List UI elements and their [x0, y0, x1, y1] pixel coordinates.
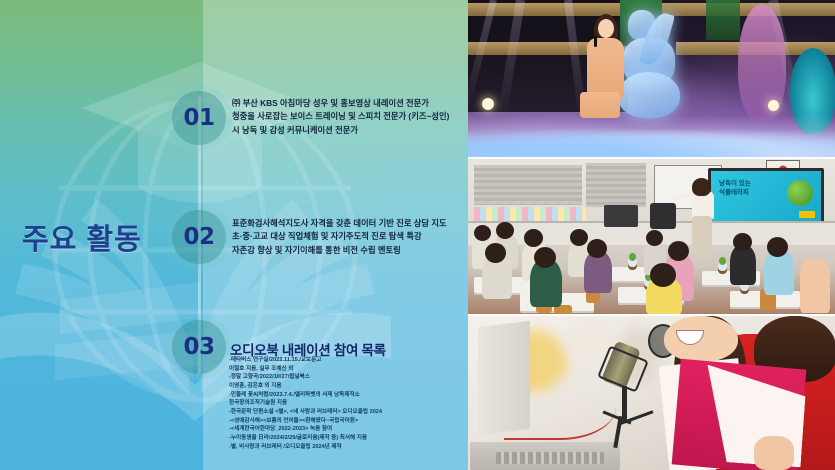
- section-02-line-1: 표준화검사해석지도사 자격을 갖춘 데이터 기반 진로 상담 지도: [232, 217, 447, 230]
- list-item: 이철호 지음, 실무 조예신 외: [229, 365, 382, 374]
- list-item: 이영훈, 김은호 외 지음: [229, 382, 382, 391]
- section-03-list: -메타버스 연구실/2022.11.15./교보문고 이철호 지음, 실무 조예…: [229, 356, 382, 451]
- section-01-line-2: 청중을 사로잡는 보이스 트레이닝 및 스피치 전문가 (키즈~성인): [232, 110, 449, 123]
- section-number-03: 03: [183, 334, 214, 360]
- list-item: -<세계한국어한마당_2022-2023> 녹음 참여: [229, 425, 382, 434]
- left-content-panel: 주요 활동 01 ㈜ 부산 KBS 아침마당 성우 및 홍보영상 내레이션 전문…: [0, 0, 468, 470]
- list-item: -<성애감사해><보름의 언어들><환해왔다~국립국어원>: [229, 417, 382, 426]
- section-number-badge-01: 01: [172, 91, 226, 145]
- screen-text: 낭독이 있는 식물테라피: [719, 179, 751, 197]
- section-02-body: 표준화검사해석지도사 자격을 갖춘 데이터 기반 진로 상담 지도 초·중·고교…: [232, 217, 447, 257]
- list-item: -메타버스 연구실/2022.11.15./교보문고: [229, 356, 382, 365]
- list-item: -민들레 꽃씨처럼/2023.7.4./엘리파벳의 서재 낭독제작소: [229, 391, 382, 400]
- list-item: -별, 비사랑과 러브레터 /오디오클립 2024년 제작: [229, 443, 382, 452]
- list-item: 한국창의조직기술원 지음: [229, 399, 382, 408]
- section-01-body: ㈜ 부산 KBS 아침마당 성우 및 홍보영상 내레이션 전문가 청중을 사로잡…: [232, 97, 449, 137]
- section-number-badge-03: 03: [172, 320, 226, 374]
- list-item: -정말 고향곡/2022/10/27/윕널북스: [229, 373, 382, 382]
- section-number-badge-02: 02: [172, 210, 226, 264]
- stage-narration-photo: [468, 0, 835, 157]
- section-number-02: 02: [183, 224, 214, 250]
- list-item: -한국문학 단편소설 <별>, <네 사랑과 러브레터> 오디오클립 2024: [229, 408, 382, 417]
- section-01-line-3: 시 낭독 및 감성 커뮤니케이션 전문가: [232, 124, 449, 137]
- section-02-line-2: 초·중·고교 대상 직업체험 및 자기주도적 진로 탐색 특강: [232, 230, 447, 243]
- audiobook-recording-photo: [468, 316, 835, 470]
- slide-root: 주요 활동 01 ㈜ 부산 KBS 아침마당 성우 및 홍보영상 내레이션 전문…: [0, 0, 835, 470]
- classroom-lecture-photo: 낭독이 있는 식물테라피: [468, 159, 835, 314]
- page-title: 주요 활동: [22, 216, 142, 258]
- section-01-line-1: ㈜ 부산 KBS 아침마당 성우 및 홍보영상 내레이션 전문가: [232, 97, 449, 110]
- photo-column: 낭독이 있는 식물테라피: [468, 0, 835, 470]
- section-02-line-3: 자존감 향상 및 자기이해를 통한 비전 수립 멘토링: [232, 244, 447, 257]
- list-item: -누이동생을 日라/2024/2/29/글로리움(제작 중) 최서해 지음: [229, 434, 382, 443]
- section-number-01: 01: [183, 105, 214, 131]
